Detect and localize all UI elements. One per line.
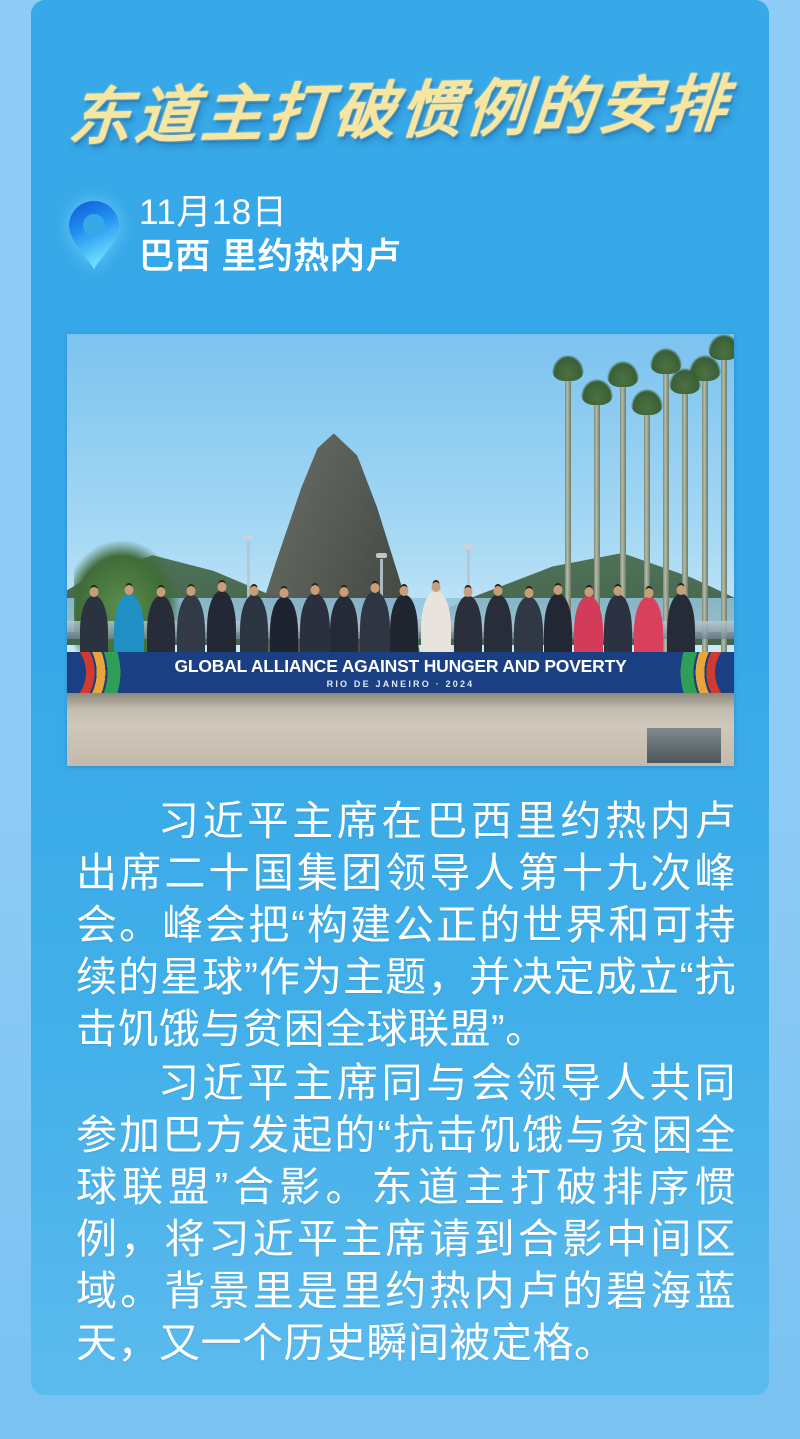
poster-root: 东道主打破惯例的安排 11月18日 (0, 0, 800, 1439)
photo-ground-shadow (67, 693, 734, 709)
meta-text-block: 11月18日 巴西 里约热内卢 (139, 193, 402, 278)
paragraph-2: 习近平主席同与会领导人共同参加巴方发起的“抗击饥饿与贫困全球联盟”合影。东道主打… (76, 1057, 736, 1369)
photo-ground (67, 693, 734, 766)
meta-row: 11月18日 巴西 里约热内卢 (67, 193, 727, 278)
event-location: 巴西 里约热内卢 (139, 237, 402, 277)
paragraph-1: 习近平主席在巴西里约热内卢出席二十国集团领导人第十九次峰会。峰会把“构建公正的世… (76, 795, 736, 1055)
photo-event-banner: GLOBAL ALLIANCE AGAINST HUNGER AND POVER… (67, 652, 734, 693)
banner-subtitle: RIO DE JANEIRO · 2024 (327, 679, 475, 689)
summit-group-photo: GLOBAL ALLIANCE AGAINST HUNGER AND POVER… (67, 334, 734, 766)
page-title: 东道主打破惯例的安排 (67, 71, 734, 150)
banner-title: GLOBAL ALLIANCE AGAINST HUNGER AND POVER… (174, 656, 626, 677)
poster-card: 东道主打破惯例的安排 11月18日 (31, 0, 769, 1395)
location-pin-icon (67, 199, 121, 271)
banner-stripes-right (646, 652, 734, 693)
title-container: 东道主打破惯例的安排 (31, 78, 769, 143)
photo-ground-structure (647, 728, 720, 763)
article-body: 习近平主席在巴西里约热内卢出席二十国集团领导人第十九次峰会。峰会把“构建公正的世… (76, 795, 736, 1369)
banner-text-block: GLOBAL ALLIANCE AGAINST HUNGER AND POVER… (155, 652, 646, 693)
event-date: 11月18日 (139, 193, 402, 233)
banner-stripes-left (67, 652, 155, 693)
